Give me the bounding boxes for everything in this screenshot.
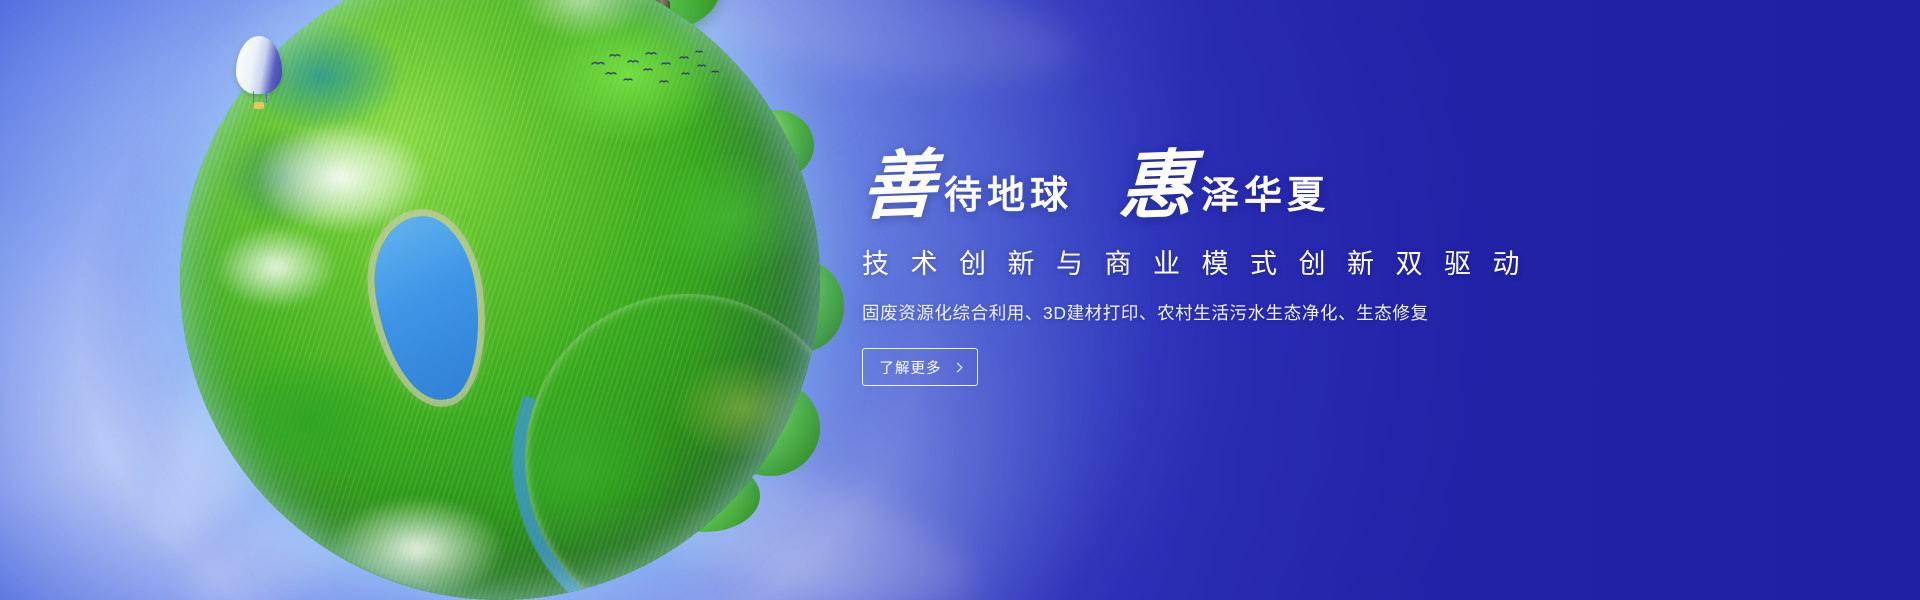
learn-more-label: 了解更多	[880, 357, 942, 378]
page-subtitle: 技 术 创 新 与 商 业 模 式 创 新 双 驱 动	[862, 242, 1562, 281]
headline-group-2: 惠 泽华夏	[1119, 152, 1330, 220]
chevron-right-icon	[952, 362, 962, 372]
headline-big-char-1: 善	[861, 151, 938, 222]
headline-small-text-2: 泽华夏	[1201, 176, 1330, 220]
headline-group-1: 善 待地球	[862, 152, 1073, 220]
hero-banner: 善 待地球 惠 泽华夏 技 术 创 新 与 商 业 模 式 创 新 双 驱 动 …	[0, 0, 1920, 600]
page-description: 固废资源化综合利用、3D建材打印、农村生活污水生态净化、生态修复	[862, 300, 1562, 325]
hero-content: 善 待地球 惠 泽华夏 技 术 创 新 与 商 业 模 式 创 新 双 驱 动 …	[862, 128, 1562, 386]
headline-big-char-2: 惠	[1118, 151, 1195, 222]
headline-small-text-1: 待地球	[944, 176, 1073, 220]
page-title: 善 待地球 惠 泽华夏	[862, 128, 1562, 220]
learn-more-button[interactable]: 了解更多	[862, 348, 978, 386]
